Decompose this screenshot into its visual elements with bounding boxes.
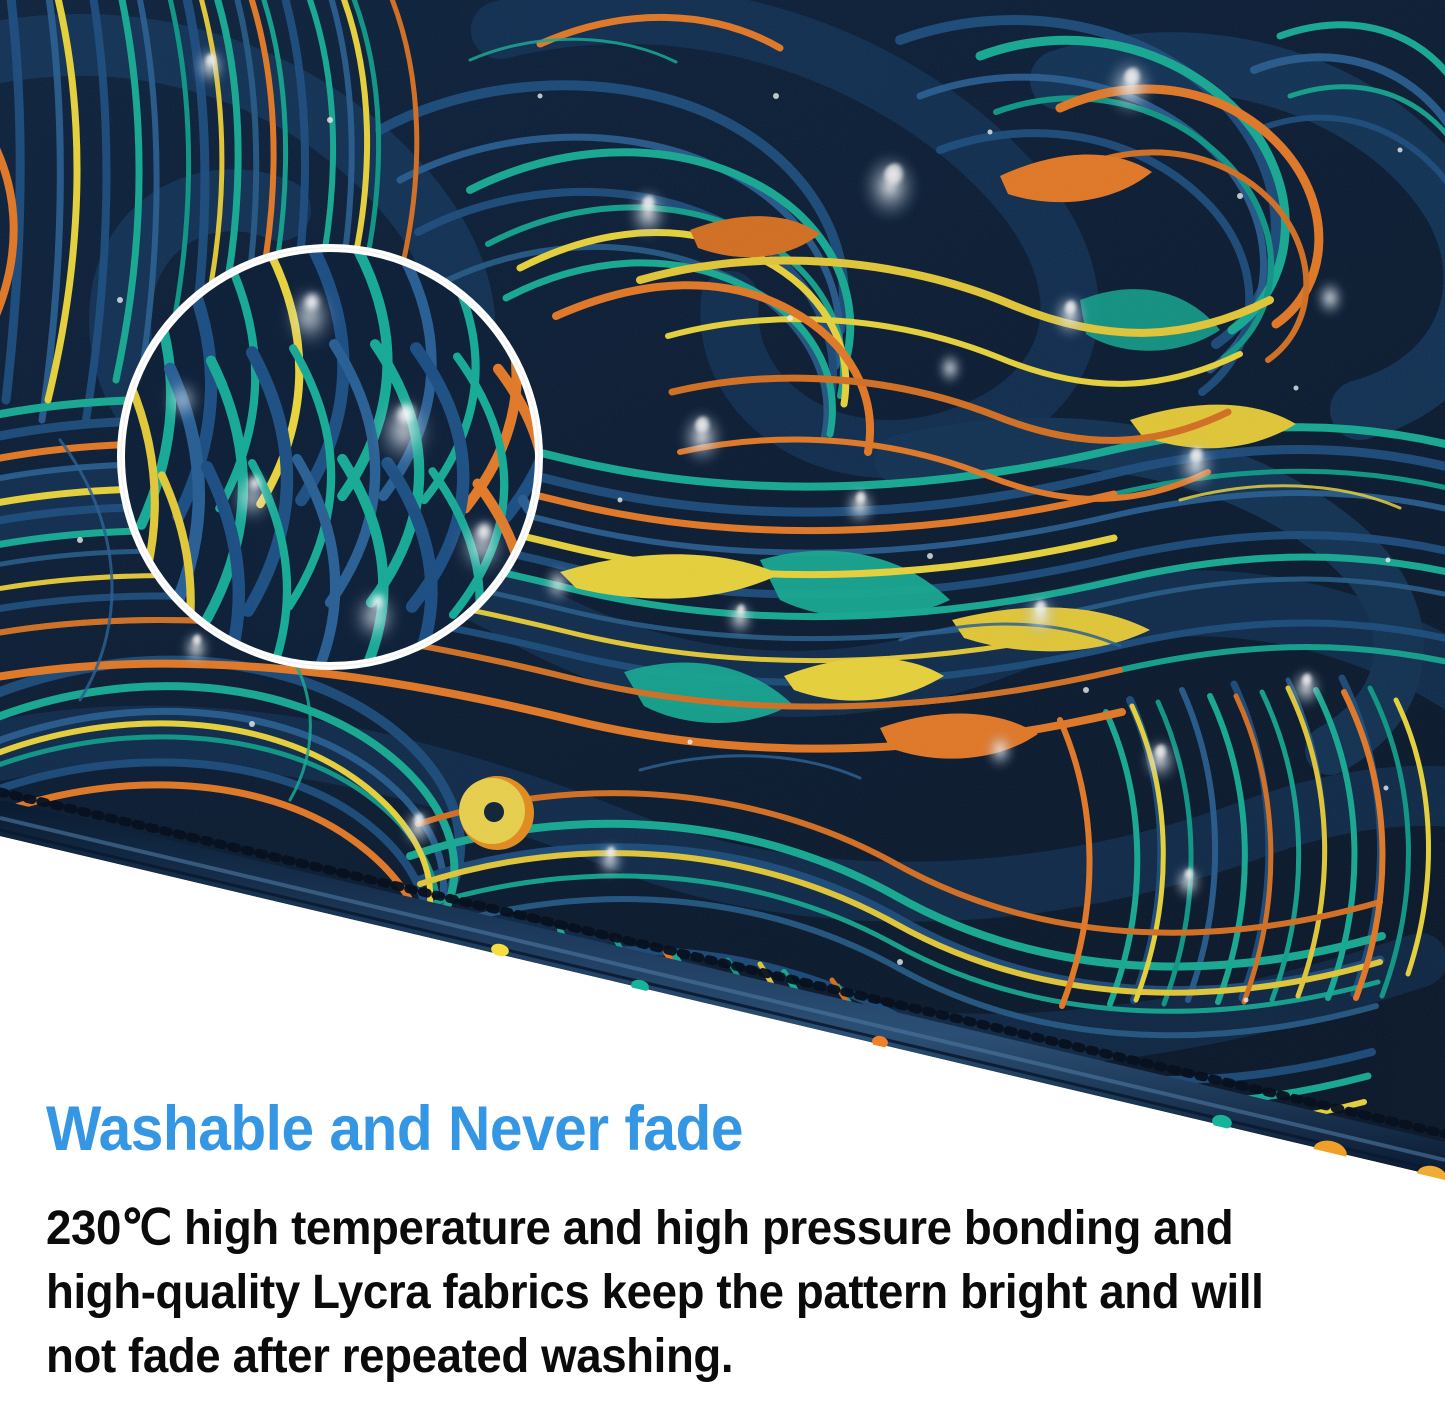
fabric-pattern-graphic	[0, 0, 1445, 1200]
body-line-3: not fade after repeated washing.	[46, 1325, 1445, 1389]
product-marketing-image: Washable and Never fade 230℃ high temper…	[0, 0, 1445, 1404]
fabric-photo	[0, 0, 1445, 1200]
headline: Washable and Never fade	[46, 1098, 1304, 1161]
body-copy: 230℃ high temperature and high pressure …	[46, 1197, 1445, 1388]
body-line-1: 230℃ high temperature and high pressure …	[46, 1197, 1445, 1261]
marketing-text-block: Washable and Never fade 230℃ high temper…	[0, 1098, 1445, 1404]
body-line-2: high-quality Lycra fabrics keep the patt…	[46, 1261, 1445, 1325]
